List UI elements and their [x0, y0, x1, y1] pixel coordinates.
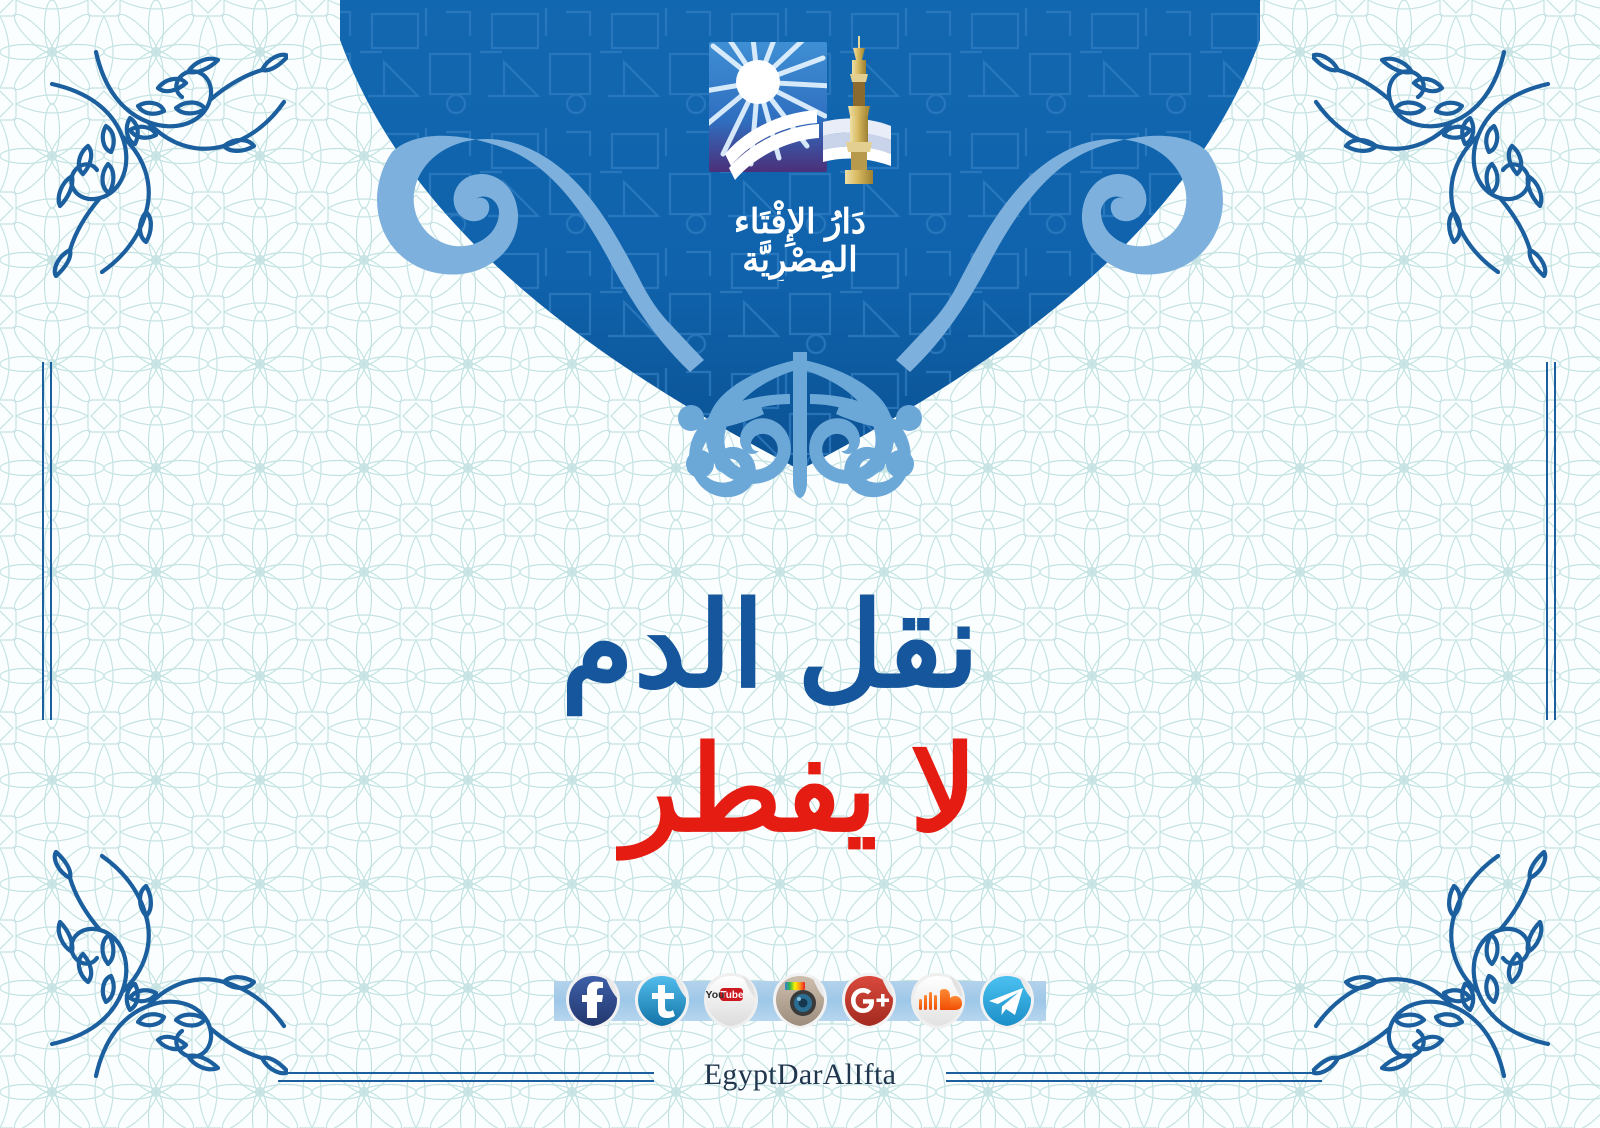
googleplus-icon[interactable] [837, 969, 901, 1033]
corner-ornament-top-right [1312, 18, 1582, 278]
telegram-icon[interactable] [975, 969, 1039, 1033]
youtube-icon[interactable]: You Tube You [699, 969, 763, 1033]
logo-wordmark: دَارُ الإِفْتَاء المِصْرِيَّة [700, 197, 900, 281]
svg-text:You: You [705, 989, 724, 1001]
headline-line-secondary: لا يفطر [0, 719, 1600, 863]
corner-ornament-top-left [18, 18, 288, 278]
headline-line-primary: نقل الدم [0, 575, 1600, 719]
social-icon-list: You Tube You [561, 969, 1039, 1033]
social-media-bar: You Tube You [0, 978, 1600, 1024]
dar-al-ifta-logo: دَارُ الإِفْتَاء المِصْرِيَّة [695, 30, 905, 285]
minaret-icon [845, 36, 873, 184]
logo-mark [695, 30, 905, 195]
footer-handle: EgyptDarAlIfta [0, 1058, 1600, 1092]
headline: نقل الدم لا يفطر [0, 575, 1600, 863]
logo-wordmark-line2: المِصْرِيَّة [742, 239, 857, 281]
twitter-icon[interactable] [630, 969, 694, 1033]
facebook-icon[interactable] [561, 969, 625, 1033]
soundcloud-icon[interactable] [906, 969, 970, 1033]
poster-card: دَارُ الإِفْتَاء المِصْرِيَّة [0, 0, 1600, 1128]
instagram-icon[interactable] [768, 969, 832, 1033]
